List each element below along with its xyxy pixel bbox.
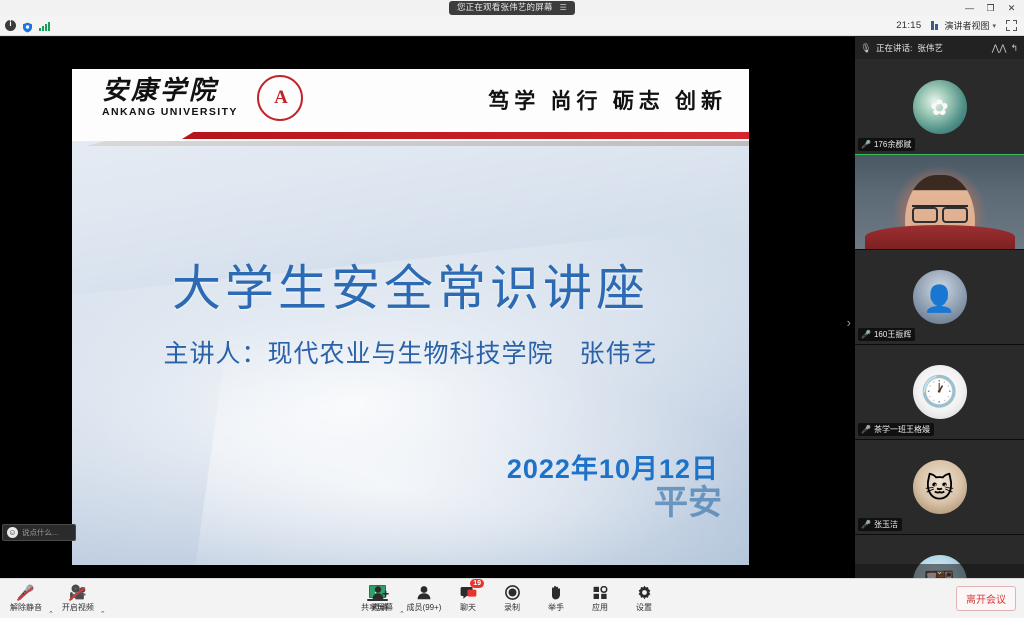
controlbar-right-group: 离开会议 [956, 586, 1024, 611]
view-mode-selector[interactable]: 演讲者视图 ▾ [931, 19, 996, 32]
minimize-button[interactable]: — [959, 0, 980, 16]
presentation-slide: 安康学院 ANKANG UNIVERSITY A 笃学 尚行 砺志 创新 大学生… [72, 69, 749, 565]
meeting-window: 您正在观看张伟艺的屏幕 ☰ — ❐ ✕ 21:15 演讲者视图 ▾ [0, 0, 1024, 618]
university-motto: 笃学 尚行 砺志 创新 [488, 85, 727, 115]
participant-tile[interactable]: 🎤 茶学一班王格嫚 [855, 344, 1024, 439]
university-name-en: ANKANG UNIVERSITY [102, 106, 238, 118]
microphone-icon: 🎙 [861, 43, 871, 53]
meeting-controlbar: 🎤 解除静音 ⌃ 🎥 开启视频 ⌃ 共享屏幕 ⌃ [0, 578, 1024, 618]
unmute-button[interactable]: 🎤 解除静音 [4, 580, 48, 618]
chat-label: 聊天 [460, 602, 476, 613]
apps-button[interactable]: 应用 [578, 580, 622, 618]
participant-tile[interactable]: 🎤 176余郡赋 [855, 59, 1024, 154]
record-label: 录制 [504, 602, 520, 613]
video-shirt [865, 225, 1015, 249]
close-button[interactable]: ✕ [1001, 0, 1022, 16]
meeting-topbar: 21:15 演讲者视图 ▾ [0, 16, 1024, 36]
mic-muted-icon: 🎤 [861, 426, 871, 434]
audio-options-caret-icon[interactable]: ⌃ [48, 610, 54, 618]
video-options-caret-icon[interactable]: ⌃ [100, 610, 106, 618]
participant-strip: 🎙 正在讲话: 张伟艺 ⋀⋀ ↰ 🎤 176余郡赋 [855, 37, 1024, 578]
strip-popout-icon[interactable]: ↰ [1010, 43, 1018, 54]
clock-avatar [913, 365, 967, 419]
participant-name-badge: 🎤 160王振辉 [858, 328, 915, 341]
raise-hand-label: 举手 [548, 602, 564, 613]
invite-button[interactable]: 邀请 [358, 580, 402, 618]
band-grey-stripe [86, 141, 749, 146]
raise-hand-button[interactable]: 举手 [534, 580, 578, 618]
band-red-stripe [182, 132, 749, 139]
slide-date: 2022年10月12日 [507, 447, 719, 486]
participants-label: 成员(99+) [407, 602, 442, 613]
emoji-icon[interactable]: ☺ [7, 527, 18, 538]
restore-button[interactable]: ❐ [980, 0, 1001, 16]
topbar-left-icons [0, 20, 51, 31]
active-speaker-name: 张伟艺 [917, 42, 943, 54]
participant-tile[interactable]: 🎤 160王振辉 [855, 249, 1024, 344]
apps-label: 应用 [592, 602, 608, 613]
invite-label: 邀请 [372, 602, 388, 613]
slide-seal-stamp: 平安 [649, 489, 727, 561]
mic-on-icon: 🎤 [861, 141, 871, 149]
quick-chat-input[interactable]: ☺ 说点什么... [2, 524, 76, 541]
participants-button[interactable]: 成员(99+) [402, 580, 446, 618]
chat-button[interactable]: 19 聊天 [446, 580, 490, 618]
record-icon [505, 584, 520, 601]
mic-muted-icon: 🎤 [17, 584, 34, 601]
settings-button[interactable]: 设置 [622, 580, 666, 618]
participant-tile[interactable] [855, 154, 1024, 249]
signal-icon[interactable] [39, 20, 51, 31]
strip-prev-icon[interactable]: ⋀⋀ [992, 43, 1007, 54]
participant-name-badge: 🎤 茶学一班王格嫚 [858, 423, 934, 436]
video-glasses [912, 205, 968, 217]
chevron-down-icon: ▾ [992, 22, 996, 30]
window-controls: — ❐ ✕ [959, 0, 1022, 16]
active-speaker-prefix: 正在讲话: [876, 42, 912, 54]
window-titlebar: 您正在观看张伟艺的屏幕 ☰ — ❐ ✕ [0, 0, 1024, 16]
participant-name: 160王振辉 [874, 329, 911, 340]
slide-header-band [72, 129, 749, 149]
strip-scroll-controls[interactable]: ⋀⋀ ↰ [992, 43, 1018, 54]
fullscreen-icon[interactable] [1006, 20, 1017, 31]
participant-tile[interactable]: 🎤 张玉洁 [855, 439, 1024, 534]
topbar-right-group: 21:15 演讲者视图 ▾ [896, 19, 1024, 32]
start-video-button[interactable]: 🎥 开启视频 [56, 580, 100, 618]
participants-icon [416, 584, 432, 601]
camera-off-icon: 🎥 [69, 584, 86, 601]
seal-letter: A [274, 87, 286, 109]
participant-video-feed [855, 155, 1024, 249]
screen-share-banner-text: 您正在观看张伟艺的屏幕 [457, 2, 553, 13]
participant-name: 176余郡赋 [874, 139, 911, 150]
record-button[interactable]: 录制 [490, 580, 534, 618]
lotus-avatar [913, 80, 967, 134]
shared-screen-stage: 安康学院 ANKANG UNIVERSITY A 笃学 尚行 砺志 创新 大学生… [0, 37, 855, 578]
speaker-view-icon [931, 21, 941, 30]
cat-avatar [913, 460, 967, 514]
controlbar-center-group: 邀请 成员(99+) 19 聊天 录制 [358, 580, 666, 618]
leave-meeting-button[interactable]: 离开会议 [956, 586, 1016, 611]
screen-share-banner: 您正在观看张伟艺的屏幕 ☰ [449, 1, 575, 15]
slide-title: 大学生安全常识讲座 [72, 249, 749, 320]
participant-name: 张玉洁 [874, 519, 898, 530]
settings-label: 设置 [636, 602, 652, 613]
person-avatar [913, 270, 967, 324]
apps-icon [593, 584, 608, 601]
mic-muted-icon: 🎤 [861, 331, 871, 339]
start-video-label: 开启视频 [62, 602, 94, 613]
banner-menu-icon[interactable]: ☰ [560, 2, 567, 13]
university-seal-icon: A [257, 75, 303, 121]
info-icon[interactable] [5, 20, 16, 31]
gear-icon [637, 584, 652, 601]
quick-chat-placeholder: 说点什么... [22, 527, 58, 538]
active-speaker-bar: 🎙 正在讲话: 张伟艺 ⋀⋀ ↰ [855, 37, 1024, 59]
view-mode-label: 演讲者视图 [944, 19, 989, 32]
chat-unread-badge: 19 [470, 579, 484, 588]
participant-name-badge: 🎤 176余郡赋 [858, 138, 915, 151]
participant-name-badge: 🎤 张玉洁 [858, 518, 902, 531]
slide-subtitle: 主讲人：现代农业与生物科技学院 张伟艺 [72, 334, 749, 370]
meeting-clock: 21:15 [896, 20, 921, 31]
university-name-cn: 安康学院 [102, 77, 238, 105]
raise-hand-icon [549, 584, 563, 601]
participant-name: 茶学一班王格嫚 [874, 424, 930, 435]
university-logo: 安康学院 ANKANG UNIVERSITY [102, 77, 238, 118]
shield-icon[interactable] [22, 20, 33, 31]
next-slide-arrow-icon[interactable]: › [847, 315, 851, 330]
unmute-label: 解除静音 [10, 602, 42, 613]
invite-icon [372, 584, 389, 601]
mic-muted-icon: 🎤 [861, 521, 871, 529]
controlbar-left-group: 🎤 解除静音 ⌃ 🎥 开启视频 ⌃ [0, 580, 106, 618]
strip-more-icon[interactable]: ⌄ [855, 564, 1024, 578]
